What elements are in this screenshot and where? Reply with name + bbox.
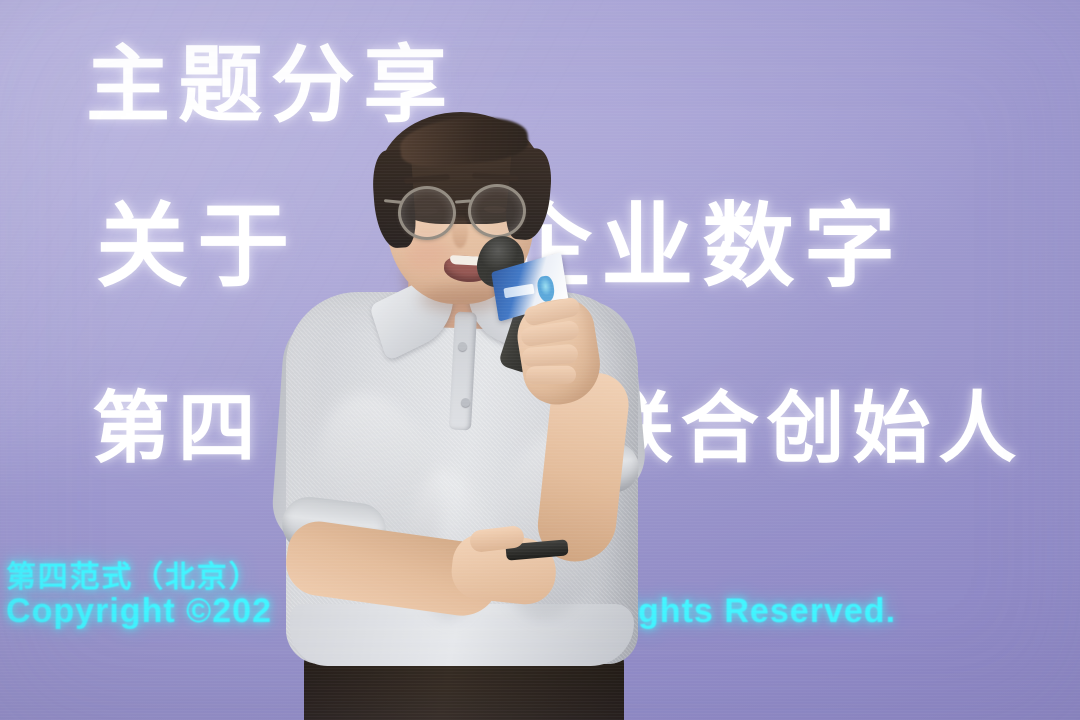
slide-footer-company-left: 第四范式（北京） bbox=[6, 552, 260, 596]
slide-title: 主题分享 bbox=[86, 18, 456, 139]
slide-footer-copyright-left: Copyright ©202 bbox=[6, 592, 272, 631]
slide-subtitle-left: 关于 bbox=[96, 172, 298, 305]
slide-subtitle-right: 企业数字 bbox=[500, 172, 905, 305]
slide-role-left: 第四 bbox=[92, 366, 264, 478]
photo-stage: 主题分享 关于 企业数字 第四 联合创始人 第四范式（北京） 司 Copyrig… bbox=[0, 0, 1080, 720]
slide-footer-company-right: 司 bbox=[556, 552, 588, 596]
slide-role-right: 联合创始人 bbox=[595, 366, 1024, 478]
slide-footer-copyright-right: All Rights Reserved. bbox=[545, 592, 896, 631]
